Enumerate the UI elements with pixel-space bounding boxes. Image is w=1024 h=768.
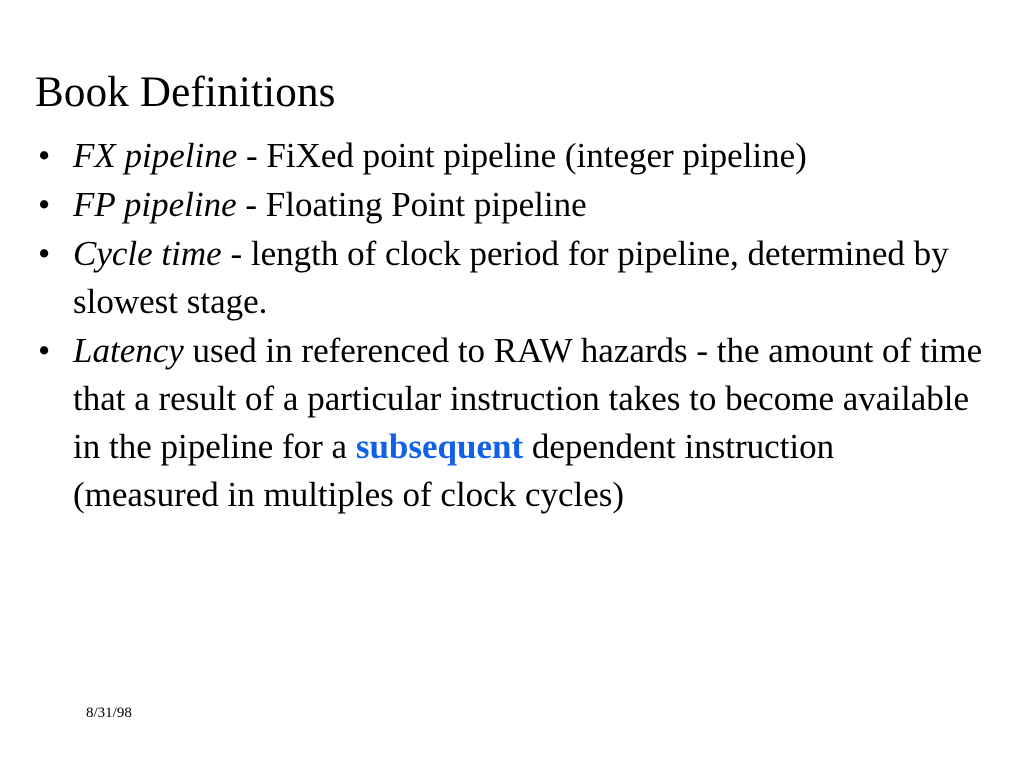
page-title: Book Definitions <box>35 67 975 119</box>
bullet-point-icon: • <box>38 327 58 375</box>
highlighted-term: subsequent <box>356 427 523 466</box>
list-item-text: FP pipeline - Floating Point pipeline <box>73 181 983 229</box>
list-item: • Cycle time - length of clock period fo… <box>33 230 983 326</box>
list-item: • FP pipeline - Floating Point pipeline <box>33 181 983 229</box>
definition-text: - Floating Point pipeline <box>237 185 587 224</box>
term-label: FX pipeline <box>73 136 237 175</box>
list-item-text: Cycle time - length of clock period for … <box>73 230 983 326</box>
slide: Book Definitions • FX pipeline - FiXed p… <box>0 0 1024 768</box>
term-label: Cycle time <box>73 234 222 273</box>
list-item: • Latency used in referenced to RAW haza… <box>33 327 983 519</box>
term-label: Latency <box>73 331 184 370</box>
list-item-text: FX pipeline - FiXed point pipeline (inte… <box>73 132 983 180</box>
bullet-point-icon: • <box>38 230 58 278</box>
list-item: • FX pipeline - FiXed point pipeline (in… <box>33 132 983 180</box>
definition-text: - FiXed point pipeline (integer pipeline… <box>237 136 807 175</box>
bullet-point-icon: • <box>38 181 58 229</box>
bullet-point-icon: • <box>38 132 58 180</box>
footer-date: 8/31/98 <box>86 703 132 723</box>
term-label: FP pipeline <box>73 185 237 224</box>
list-item-text: Latency used in referenced to RAW hazard… <box>73 327 983 519</box>
bullet-list: • FX pipeline - FiXed point pipeline (in… <box>33 132 983 520</box>
